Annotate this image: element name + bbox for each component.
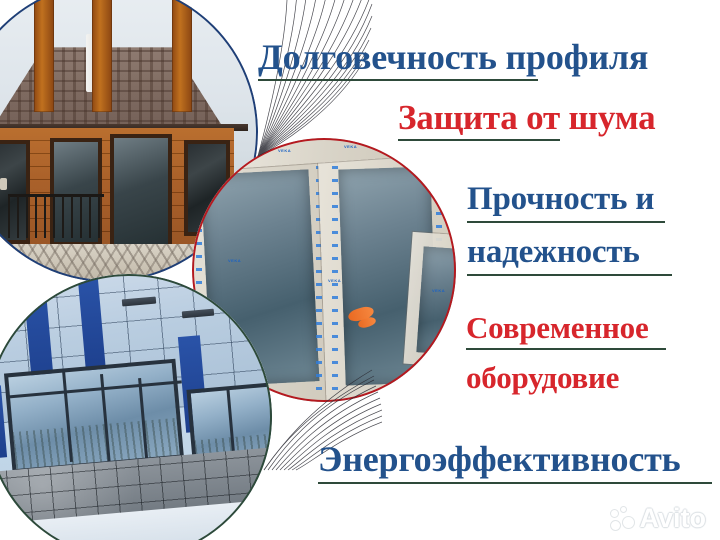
headline-underline-5: [466, 348, 666, 350]
veka-logo-text: VEKA: [328, 278, 341, 283]
headline-underline-3: [467, 221, 665, 223]
headline-noise-protection: Защита от шума: [398, 98, 655, 138]
advert-image: VEKA VEKA VEKA VEKA VEKA VEKA VEKA: [0, 0, 720, 540]
headline-modern: Современное: [466, 310, 649, 346]
balcony-railing: [8, 196, 104, 238]
veka-logo-text: VEKA: [344, 144, 357, 149]
headline-energy-efficiency: Энергоэффективность: [318, 438, 680, 480]
log-column-2: [92, 0, 112, 112]
log-column-3: [172, 0, 192, 112]
avito-watermark: Avito: [610, 505, 707, 532]
photo-building-facade: [0, 274, 272, 540]
veka-film-strip-right: [332, 152, 338, 390]
veka-logo-text: VEKA: [402, 160, 415, 165]
headline-underline-6: [318, 482, 712, 484]
headline-reliability: надежность: [467, 234, 640, 271]
veka-logo-text: VEKA: [278, 148, 291, 153]
veka-logo-text: VEKA: [432, 288, 445, 293]
log-column-1: [34, 0, 54, 112]
photo-building-facade-image: [0, 274, 272, 540]
headline-underline-1: [258, 79, 538, 81]
headline-durability: Долговечность профиля: [258, 36, 648, 78]
pvc-glass-back: [416, 246, 456, 355]
avito-logo-icon: [610, 506, 635, 531]
headline-underline-2: [398, 139, 560, 141]
wall-lamp: [0, 178, 7, 190]
avito-wordmark: Avito: [640, 505, 707, 532]
storefront-glazing-left: [4, 359, 184, 474]
veka-logo-text: VEKA: [228, 258, 241, 263]
headline-underline-4: [467, 274, 672, 276]
headline-equipment: оборудовие: [466, 360, 619, 396]
veka-logo-text: VEKA: [216, 152, 229, 157]
window-center-right: [110, 134, 172, 250]
headline-strength: Прочность и: [467, 181, 654, 218]
